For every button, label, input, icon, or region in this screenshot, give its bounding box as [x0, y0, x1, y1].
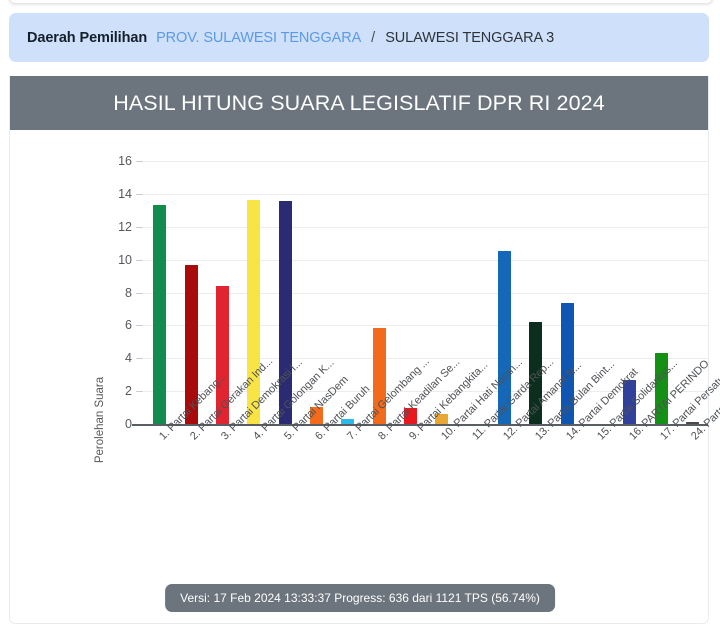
chart-title: HASIL HITUNG SUARA LEGISLATIF DPR RI 202… — [10, 76, 708, 130]
previous-card-sliver — [9, 0, 713, 4]
breadcrumb-label: Daerah Pemilihan — [27, 30, 147, 46]
chart-card: HASIL HITUNG SUARA LEGISLATIF DPR RI 202… — [9, 76, 709, 624]
chart-x-axis-labels: 1. Partai Kebang...2. Partai Gerakan Ind… — [10, 130, 708, 622]
breadcrumb-province-link[interactable]: PROV. SULAWESI TENGGARA — [156, 30, 361, 46]
breadcrumb-dapil: SULAWESI TENGGARA 3 — [385, 30, 554, 46]
version-progress-pill: Versi: 17 Feb 2024 13:33:37 Progress: 63… — [165, 584, 555, 612]
chart-plot-area: Perolehan Suara 0246810121416 1. Partai … — [10, 130, 708, 622]
breadcrumb-separator: / — [371, 30, 375, 46]
breadcrumb: Daerah Pemilihan PROV. SULAWESI TENGGARA… — [9, 13, 709, 62]
